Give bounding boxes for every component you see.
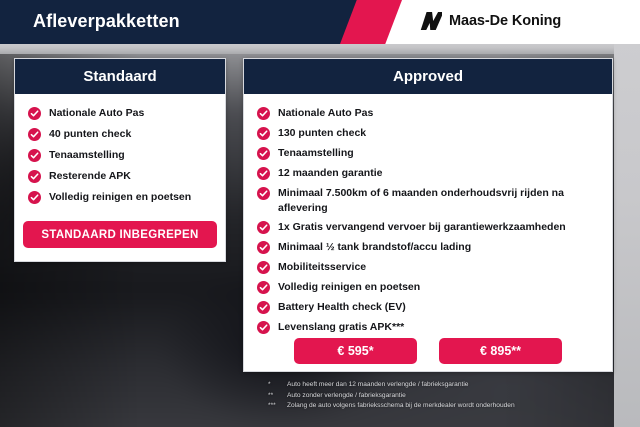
- list-item-label: Volledig reinigen en poetsen: [278, 280, 420, 295]
- footnote-item: *** Zolang de auto volgens fabrieksschem…: [268, 401, 618, 412]
- check-circle-icon: [28, 128, 41, 141]
- list-item: Minimaal 7.500km of 6 maanden onderhouds…: [257, 186, 599, 216]
- check-circle-icon: [257, 281, 270, 294]
- check-circle-icon: [257, 221, 270, 234]
- list-item-label: Tenaamstelling: [49, 148, 125, 163]
- list-item: Levenslang gratis APK***: [257, 320, 599, 335]
- price-button-895[interactable]: € 895**: [439, 338, 562, 364]
- price-button-row: € 595* € 895**: [243, 338, 613, 364]
- card-approved-features: Nationale Auto Pas 130 punten check Tena…: [244, 94, 612, 335]
- list-item: Nationale Auto Pas: [257, 106, 599, 121]
- list-item-label: Nationale Auto Pas: [49, 106, 144, 121]
- list-item: Tenaamstelling: [257, 146, 599, 161]
- check-circle-icon: [257, 107, 270, 120]
- footnotes: * Auto heeft meer dan 12 maanden verleng…: [268, 380, 618, 412]
- standaard-inbegrepen-button[interactable]: STANDAARD INBEGREPEN: [23, 221, 217, 248]
- footnote-item: * Auto heeft meer dan 12 maanden verleng…: [268, 380, 618, 391]
- list-item-label: Mobiliteitsservice: [278, 260, 366, 275]
- check-circle-icon: [257, 241, 270, 254]
- check-circle-icon: [257, 187, 270, 200]
- list-item-label: 1x Gratis vervangend vervoer bij garanti…: [278, 220, 566, 235]
- list-item: Minimaal ½ tank brandstof/accu lading: [257, 240, 599, 255]
- footnote-item: ** Auto zonder verlengde / fabrieksgaran…: [268, 391, 618, 402]
- footnote-marker: *: [268, 380, 281, 391]
- list-item-label: Volledig reinigen en poetsen: [49, 190, 191, 205]
- list-item-label: Nationale Auto Pas: [278, 106, 373, 121]
- check-circle-icon: [28, 107, 41, 120]
- list-item: Volledig reinigen en poetsen: [28, 190, 212, 205]
- brand-logo: Maas-De Koning: [417, 10, 561, 32]
- list-item: 130 punten check: [257, 126, 599, 141]
- list-item: Resterende APK: [28, 169, 212, 184]
- card-standaard-features: Nationale Auto Pas 40 punten check Tenaa…: [15, 94, 225, 205]
- check-circle-icon: [257, 147, 270, 160]
- list-item: Nationale Auto Pas: [28, 106, 212, 121]
- footnote-marker: **: [268, 391, 281, 402]
- price-button-595[interactable]: € 595*: [294, 338, 417, 364]
- card-standaard-header: Standaard: [15, 59, 225, 94]
- list-item-label: 12 maanden garantie: [278, 166, 382, 181]
- background-right-strip: [614, 40, 640, 427]
- check-circle-icon: [257, 127, 270, 140]
- check-circle-icon: [257, 321, 270, 334]
- list-item: Battery Health check (EV): [257, 300, 599, 315]
- list-item-label: 130 punten check: [278, 126, 366, 141]
- page-header: Afleverpakketten Maas-De Koning: [0, 0, 640, 44]
- check-circle-icon: [257, 167, 270, 180]
- list-item: Tenaamstelling: [28, 148, 212, 163]
- list-item-label: 40 punten check: [49, 127, 131, 142]
- footnote-text: Auto zonder verlengde / fabrieksgarantie: [287, 391, 406, 402]
- list-item-label: Battery Health check (EV): [278, 300, 406, 315]
- card-approved: Approved Nationale Auto Pas 130 punten c…: [243, 58, 613, 372]
- list-item: Mobiliteitsservice: [257, 260, 599, 275]
- card-approved-title: Approved: [393, 68, 463, 85]
- list-item: 1x Gratis vervangend vervoer bij garanti…: [257, 220, 599, 235]
- footnote-marker: ***: [268, 401, 281, 412]
- footnote-text: Zolang de auto volgens fabrieksschema bi…: [287, 401, 515, 412]
- page-title: Afleverpakketten: [33, 11, 180, 32]
- afleverpakketten-page: Afleverpakketten Maas-De Koning Standaar…: [0, 0, 640, 427]
- list-item-label: Levenslang gratis APK***: [278, 320, 404, 335]
- check-circle-icon: [257, 301, 270, 314]
- list-item-label: Resterende APK: [49, 169, 131, 184]
- list-item-label: Minimaal 7.500km of 6 maanden onderhouds…: [278, 186, 599, 216]
- footnote-text: Auto heeft meer dan 12 maanden verlengde…: [287, 380, 468, 391]
- card-approved-header: Approved: [244, 59, 612, 94]
- list-item-label: Tenaamstelling: [278, 146, 354, 161]
- list-item: 12 maanden garantie: [257, 166, 599, 181]
- check-circle-icon: [28, 191, 41, 204]
- maas-de-koning-m-logo-icon: [417, 10, 442, 32]
- list-item: 40 punten check: [28, 127, 212, 142]
- list-item-label: Minimaal ½ tank brandstof/accu lading: [278, 240, 471, 255]
- card-standaard-title: Standaard: [83, 68, 156, 85]
- brand-name: Maas-De Koning: [449, 13, 561, 29]
- check-circle-icon: [257, 261, 270, 274]
- list-item: Volledig reinigen en poetsen: [257, 280, 599, 295]
- check-circle-icon: [28, 149, 41, 162]
- check-circle-icon: [28, 170, 41, 183]
